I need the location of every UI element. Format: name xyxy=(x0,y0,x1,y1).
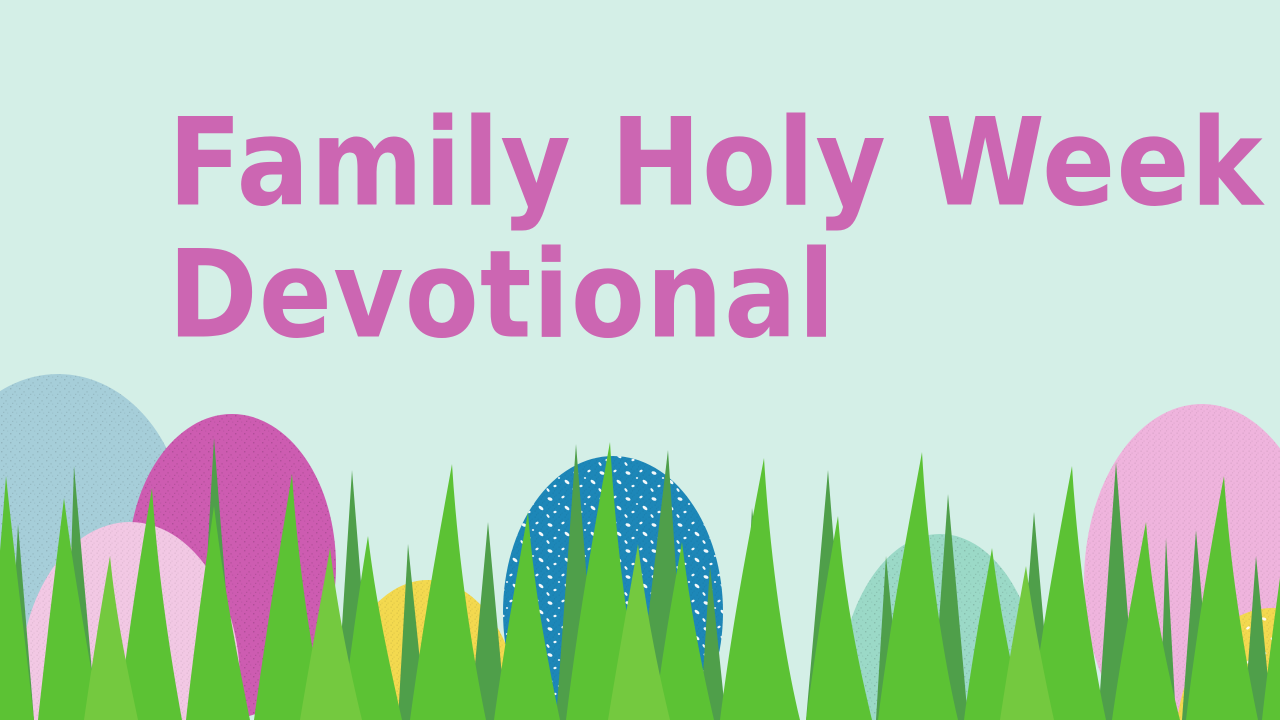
slide-canvas: Family Holy Week Devotional xyxy=(0,0,1280,720)
title-line-1-wrap: Family Holy Week xyxy=(168,96,1242,214)
page-title-line-1: Family Holy Week xyxy=(168,96,1264,231)
title-line-2-wrap: Devotional xyxy=(168,214,823,346)
slide-title-block: Family Holy Week Devotional xyxy=(168,96,1168,346)
page-title-line-2: Devotional xyxy=(168,228,836,363)
